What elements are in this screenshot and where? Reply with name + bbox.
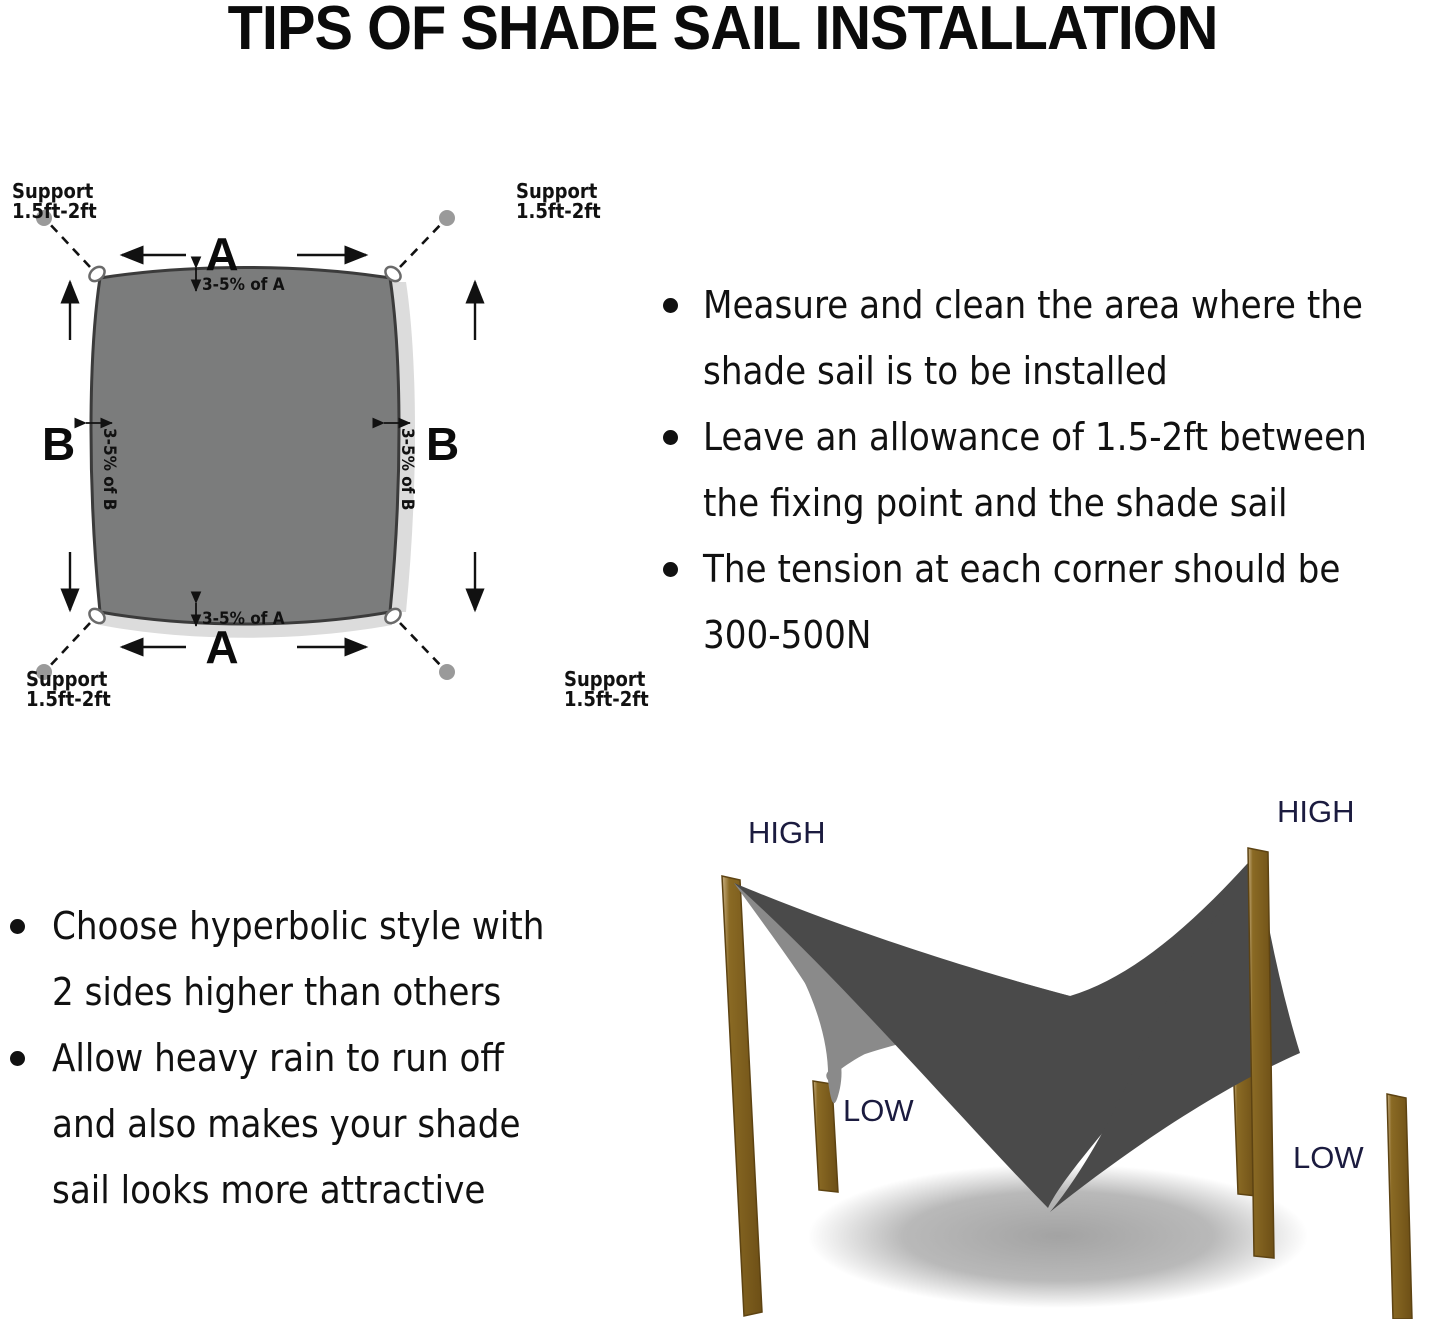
tip-text: Measure and clean the area where the (703, 272, 1445, 338)
list-item: Leave an allowance of 1.5-2ft between (655, 404, 1445, 470)
tie-line-bottom-right (400, 623, 443, 668)
tip-text: and also makes your shade (52, 1091, 624, 1157)
support-dot-bottom-right (439, 664, 455, 680)
post-low-right (1387, 1094, 1412, 1319)
label-low-right: LOW (1293, 1140, 1364, 1175)
curve-depth-a-bottom-label: 3-5% of A (202, 609, 285, 629)
label-low-left: LOW (843, 1093, 914, 1128)
post-high-left (722, 876, 762, 1316)
list-item: Allow heavy rain to run off (4, 1025, 624, 1091)
support-dot-top-right (439, 210, 455, 226)
hyperbolic-sail-illustration: HIGH HIGH LOW LOW (660, 788, 1445, 1319)
dimension-a-top-label: A (205, 228, 238, 280)
tip-text: 300-500N (703, 602, 1445, 668)
dimension-b-left-label: B (42, 418, 75, 470)
support-top-left-line2: 1.5ft-2ft (12, 199, 97, 223)
tie-line-top-left (48, 222, 90, 267)
bullet-dot-icon (663, 298, 678, 313)
tip-text: the fixing point and the shade sail (703, 470, 1445, 536)
support-bottom-left-line2: 1.5ft-2ft (26, 687, 111, 711)
tie-line-bottom-left (48, 623, 90, 668)
support-top-right-line2: 1.5ft-2ft (516, 199, 601, 223)
tips-list-right: Measure and clean the area where the sha… (655, 272, 1445, 668)
list-item: The tension at each corner should be (655, 536, 1445, 602)
curve-depth-b-right-label: 3-5% of B (397, 428, 417, 510)
list-item: 2 sides higher than others (4, 959, 624, 1025)
list-item: sail looks more attractive (4, 1157, 624, 1223)
bullet-dot-icon (663, 430, 678, 445)
bullet-dot-icon (10, 919, 25, 934)
tip-text: sail looks more attractive (52, 1157, 624, 1223)
tip-text: Choose hyperbolic style with (52, 893, 624, 959)
list-item: and also makes your shade (4, 1091, 624, 1157)
curve-depth-b-left-label: 3-5% of B (99, 428, 119, 510)
curve-depth-a-top-label: 3-5% of A (202, 275, 285, 295)
list-item: Measure and clean the area where the (655, 272, 1445, 338)
tip-text: 2 sides higher than others (52, 959, 624, 1025)
tip-text: Leave an allowance of 1.5-2ft between (703, 404, 1445, 470)
bullet-dot-icon (10, 1051, 25, 1066)
bullet-dot-icon (663, 562, 678, 577)
list-item: shade sail is to be installed (655, 338, 1445, 404)
shade-sail-shape (91, 268, 399, 625)
tips-list-left: Choose hyperbolic style with 2 sides hig… (4, 893, 624, 1223)
tie-line-top-right (400, 222, 443, 267)
dimension-b-right-label: B (426, 418, 459, 470)
label-high-right: HIGH (1277, 794, 1355, 829)
page-title: TIPS OF SHADE SAIL INSTALLATION (51, 0, 1395, 64)
list-item: 300-500N (655, 602, 1445, 668)
rectangular-sail-diagram: Support 1.5ft-2ft Support 1.5ft-2ft Supp… (0, 160, 660, 735)
tip-text: The tension at each corner should be (703, 536, 1445, 602)
list-item: Choose hyperbolic style with (4, 893, 624, 959)
list-item: the fixing point and the shade sail (655, 470, 1445, 536)
tip-text: Allow heavy rain to run off (52, 1025, 624, 1091)
tip-text: shade sail is to be installed (703, 338, 1445, 404)
support-bottom-right-line2: 1.5ft-2ft (564, 687, 649, 711)
label-high-left: HIGH (748, 815, 826, 850)
